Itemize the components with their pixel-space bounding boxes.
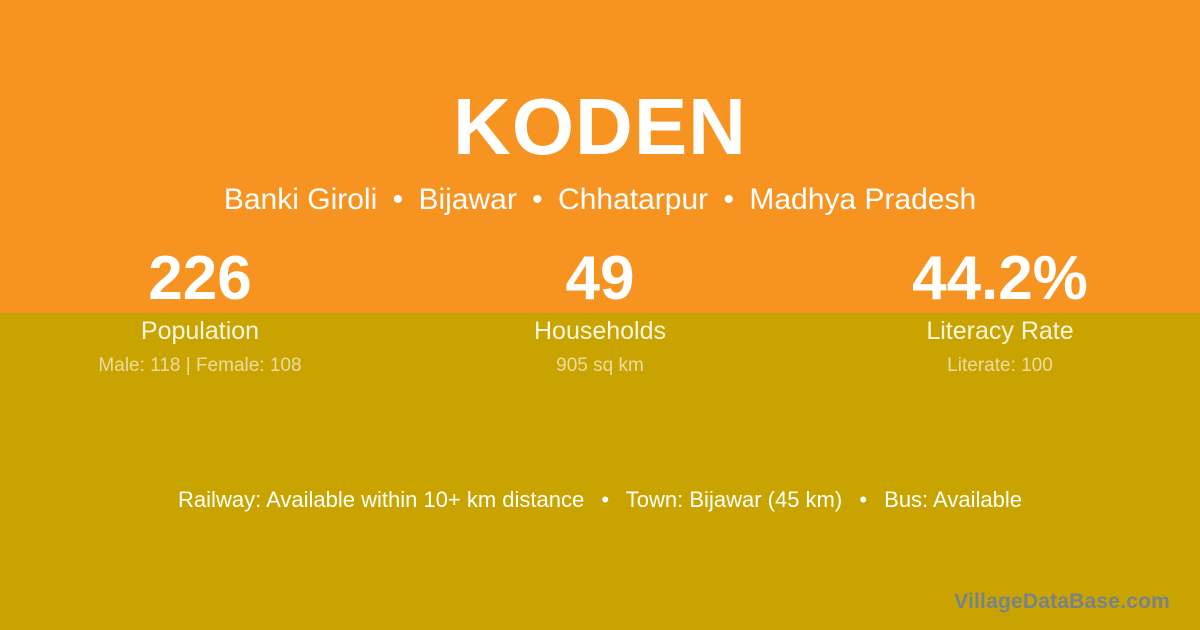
village-info-card: KODEN Banki Giroli • Bijawar • Chhatarpu… bbox=[0, 0, 1200, 630]
amenities-line: Railway: Available within 10+ km distanc… bbox=[0, 486, 1200, 514]
stat-sub: 905 sq km bbox=[400, 354, 800, 378]
amenity-separator: • bbox=[848, 486, 878, 514]
stat-label: Literacy Rate bbox=[800, 316, 1200, 346]
stat-label: Households bbox=[400, 316, 800, 346]
stat-population: 226 Population Male: 118 | Female: 108 bbox=[0, 246, 400, 378]
site-brand: VillageDataBase.com bbox=[954, 589, 1170, 615]
stat-sub: Literate: 100 bbox=[800, 354, 1200, 378]
breadcrumb: Banki Giroli • Bijawar • Chhatarpur • Ma… bbox=[0, 182, 1200, 218]
breadcrumb-item-district: Chhatarpur bbox=[558, 183, 708, 216]
amenity-town: Town: Bijawar (45 km) bbox=[626, 487, 842, 512]
breadcrumb-item-state: Madhya Pradesh bbox=[749, 183, 976, 216]
stat-households: 49 Households 905 sq km bbox=[400, 246, 800, 378]
page-title: KODEN bbox=[0, 84, 1200, 170]
stat-literacy-rate: 44.2% Literacy Rate Literate: 100 bbox=[800, 246, 1200, 378]
stat-value: 226 bbox=[0, 246, 400, 312]
breadcrumb-separator: • bbox=[525, 182, 550, 218]
amenity-separator: • bbox=[590, 486, 620, 514]
breadcrumb-item-block: Bijawar bbox=[418, 183, 516, 216]
stats-row: 226 Population Male: 118 | Female: 108 4… bbox=[0, 246, 1200, 378]
stat-value: 49 bbox=[400, 246, 800, 312]
breadcrumb-separator: • bbox=[386, 182, 411, 218]
breadcrumb-item-village: Banki Giroli bbox=[224, 183, 377, 216]
stat-value: 44.2% bbox=[800, 246, 1200, 312]
amenity-bus: Bus: Available bbox=[884, 487, 1022, 512]
stat-sub: Male: 118 | Female: 108 bbox=[0, 354, 400, 378]
stat-label: Population bbox=[0, 316, 400, 346]
breadcrumb-separator: • bbox=[716, 182, 741, 218]
amenity-railway: Railway: Available within 10+ km distanc… bbox=[178, 487, 584, 512]
